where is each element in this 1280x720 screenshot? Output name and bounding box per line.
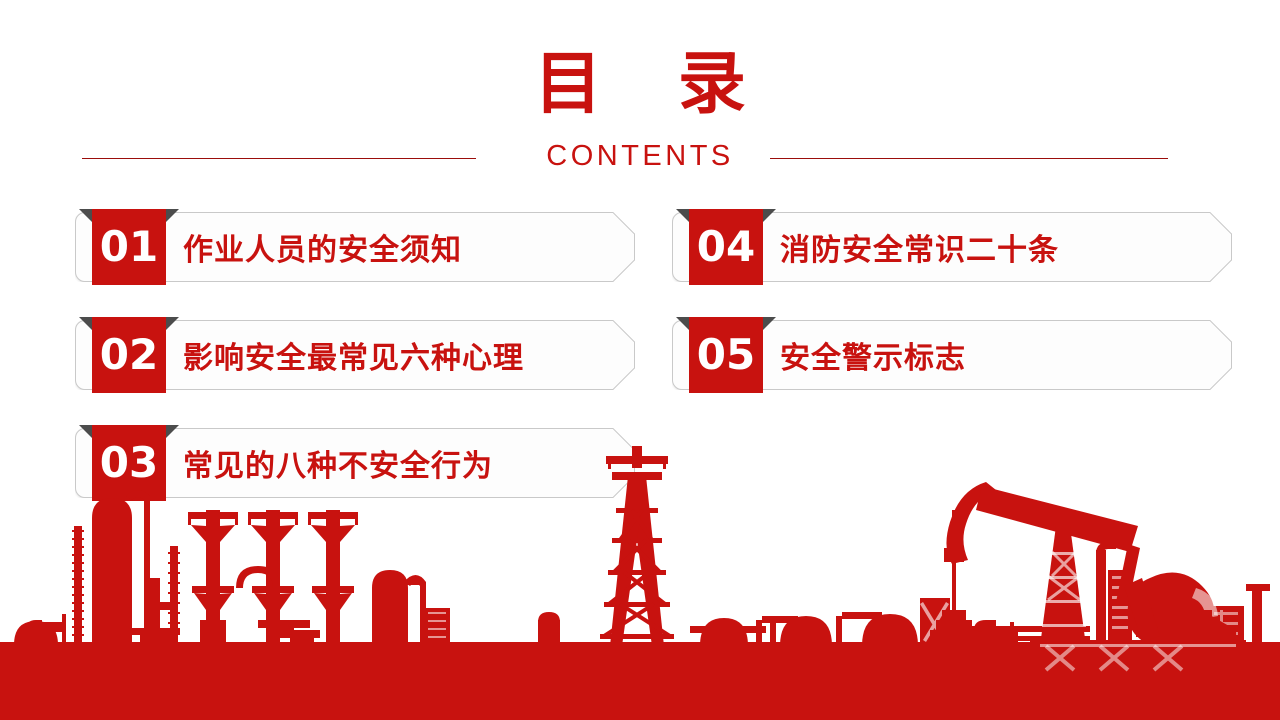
contents-item-02[interactable]: 02 影响安全最常见六种心理: [75, 320, 635, 390]
item-number-badge: 01: [92, 209, 166, 285]
item-number-badge: 04: [689, 209, 763, 285]
slide-contents-page: 目 录 CONTENTS 01 作业人员的安全须知: [0, 0, 1280, 720]
contents-item-04[interactable]: 04 消防安全常识二十条: [672, 212, 1232, 282]
contents-item-01[interactable]: 01 作业人员的安全须知: [75, 212, 635, 282]
item-label: 消防安全常识二十条: [780, 212, 1059, 282]
item-number-badge: 02: [92, 317, 166, 393]
refinery-skyline-icon: [0, 430, 1280, 720]
item-number-badge: 05: [689, 317, 763, 393]
item-label: 安全警示标志: [780, 320, 966, 390]
contents-item-05[interactable]: 05 安全警示标志: [672, 320, 1232, 390]
item-label: 影响安全最常见六种心理: [183, 320, 524, 390]
item-label: 作业人员的安全须知: [183, 212, 462, 282]
